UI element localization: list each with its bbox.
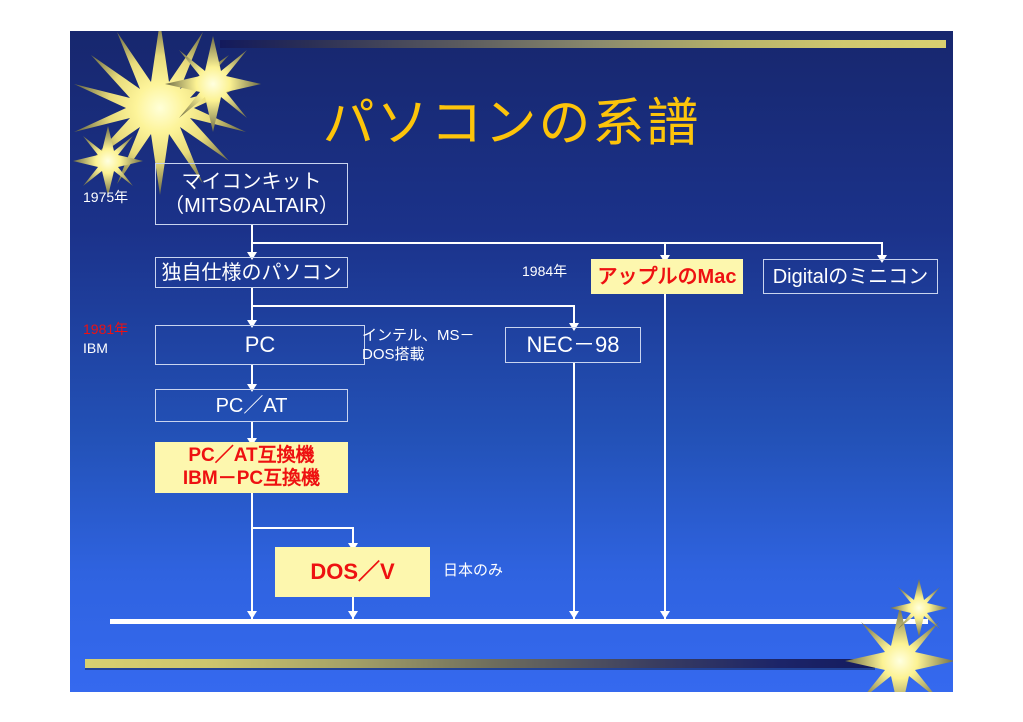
node-line-2: IBM－PC互換機 bbox=[183, 468, 320, 491]
node-apple-mac[interactable]: アップルのMac bbox=[591, 259, 743, 294]
year-label-1981: 1981年 bbox=[83, 321, 128, 339]
page-title: パソコンの系譜 bbox=[70, 81, 953, 156]
node-dos-v[interactable]: DOS／V bbox=[275, 547, 430, 597]
annotation-line-2: DOS搭載 bbox=[362, 346, 475, 365]
node-line-1: PC bbox=[245, 332, 276, 358]
label-ibm: IBM bbox=[83, 340, 108, 358]
connector-mac-down bbox=[664, 294, 666, 619]
node-digital-minicomputer[interactable]: Digitalのミニコン bbox=[763, 259, 938, 294]
top-gradient-bar bbox=[220, 40, 946, 48]
annotation-japan-only: 日本のみ bbox=[443, 562, 503, 581]
node-nec-98[interactable]: NEC－98 bbox=[505, 327, 641, 363]
connector-nec-down bbox=[573, 363, 575, 619]
arrowhead-baseline-1 bbox=[247, 611, 257, 619]
connector-kit-bus bbox=[251, 242, 883, 244]
node-line-2: （MITSのALTAIR） bbox=[164, 194, 339, 218]
node-line-1: Digitalのミニコン bbox=[773, 265, 929, 289]
connector-dokuji-bus bbox=[251, 305, 574, 307]
year-label-1984: 1984年 bbox=[522, 263, 567, 281]
node-line-1: マイコンキット bbox=[182, 170, 322, 194]
node-proprietary-pc[interactable]: 独自仕様のパソコン bbox=[155, 257, 348, 288]
node-line-1: PC／AT bbox=[216, 394, 288, 418]
node-line-1: NEC－98 bbox=[527, 332, 620, 358]
arrowhead-baseline-3 bbox=[569, 611, 579, 619]
arrowhead-baseline-4 bbox=[660, 611, 670, 619]
year-label-1975: 1975年 bbox=[83, 189, 128, 207]
node-line-1: PC／AT互換機 bbox=[188, 445, 314, 468]
connector-gokan-to-dosv bbox=[251, 527, 354, 529]
node-pc-at[interactable]: PC／AT bbox=[155, 389, 348, 422]
node-pc-at-compatible[interactable]: PC／AT互換機 IBM－PC互換機 bbox=[155, 442, 348, 493]
annotation-intel-msdos: インテル、MS－ DOS搭載 bbox=[362, 327, 475, 365]
node-line-1: 独自仕様のパソコン bbox=[162, 261, 342, 285]
arrowhead-baseline-2 bbox=[348, 611, 358, 619]
annotation-line-1: インテル、MS－ bbox=[362, 327, 475, 346]
node-pc[interactable]: PC bbox=[155, 325, 365, 365]
star-bottom-small-icon bbox=[890, 579, 948, 637]
slide-canvas: パソコンの系譜 1975年 1981年 IBM 1984年 マイコンキット （M… bbox=[70, 31, 953, 692]
node-microcomputer-kit[interactable]: マイコンキット （MITSのALTAIR） bbox=[155, 163, 348, 225]
white-baseline bbox=[110, 619, 928, 624]
node-line-1: アップルのMac bbox=[598, 265, 737, 289]
bottom-gradient-bar bbox=[85, 659, 875, 668]
connector-gokan-down bbox=[251, 492, 253, 619]
node-line-1: DOS／V bbox=[310, 559, 394, 585]
